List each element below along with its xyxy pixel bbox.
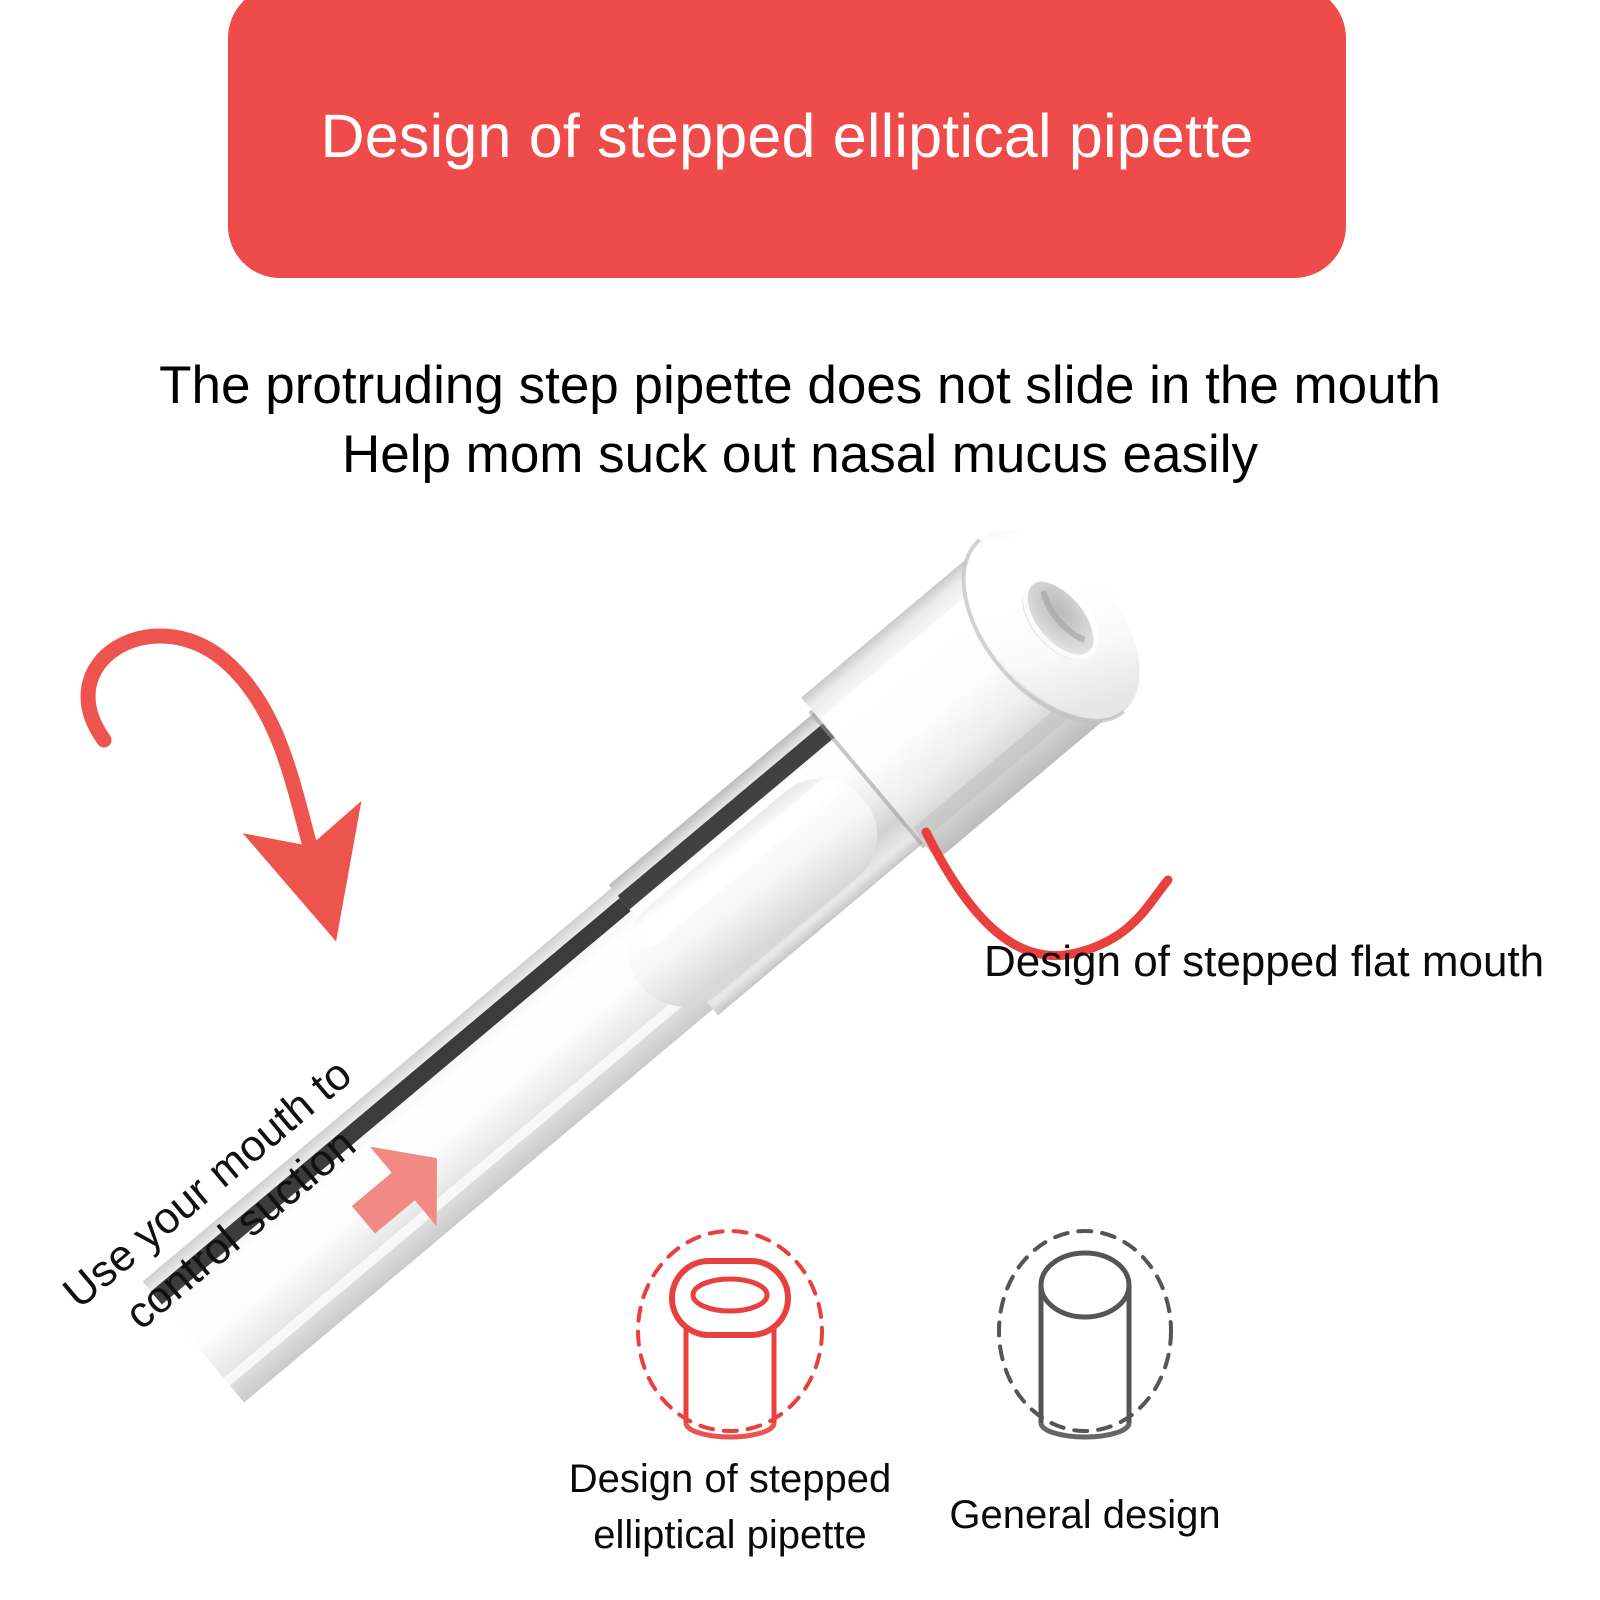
- comparison-caption-stepped: Design of stepped elliptical pipette: [560, 1451, 900, 1563]
- stepped-elliptical-tube-icon: [560, 1225, 900, 1445]
- comparison-item-stepped-elliptical: Design of stepped elliptical pipette: [560, 1225, 900, 1563]
- subtitle-block: The protruding step pipette does not sli…: [0, 352, 1600, 490]
- caption-line-2: elliptical pipette: [560, 1507, 900, 1563]
- caption-line-1: Design of stepped: [560, 1451, 900, 1507]
- callout-label-stepped-flat-mouth: Design of stepped flat mouth: [984, 936, 1544, 989]
- plain-cylinder-tube-icon: [930, 1225, 1240, 1445]
- stepped-flared-head: [672, 1261, 788, 1335]
- comparison-section: Design of stepped elliptical pipette: [560, 1225, 1300, 1595]
- page-title: Design of stepped elliptical pipette: [228, 104, 1346, 168]
- caption-line-1: General design: [930, 1487, 1240, 1543]
- cylinder-top-circle: [1041, 1253, 1129, 1317]
- product-infographic-page: Design of stepped elliptical pipette The…: [0, 0, 1600, 1600]
- header-banner: Design of stepped elliptical pipette: [228, 0, 1346, 278]
- subtitle-line-2: Help mom suck out nasal mucus easily: [0, 421, 1600, 490]
- comparison-item-general: General design: [930, 1225, 1240, 1543]
- curved-arrow-icon: [88, 636, 310, 846]
- subtitle-line-1: The protruding step pipette does not sli…: [0, 352, 1600, 421]
- comparison-caption-general: General design: [930, 1487, 1240, 1543]
